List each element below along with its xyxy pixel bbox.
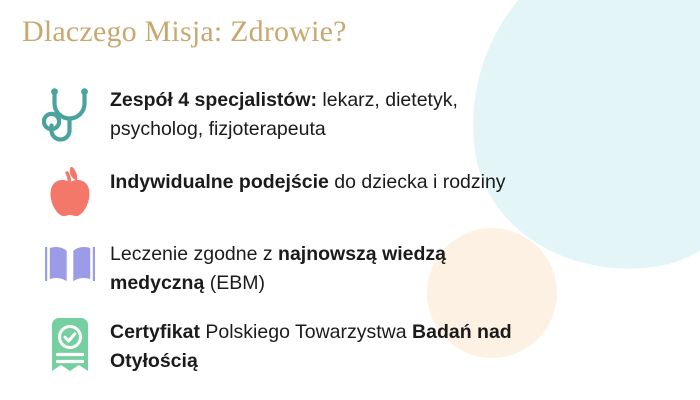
stethoscope-icon [36, 84, 104, 148]
benefits-list: Zespół 4 specjalistów: lekarz, dietetyk,… [0, 84, 700, 396]
list-item: Leczenie zgodne z najnowszą wiedzą medyc… [0, 238, 700, 316]
bullet-2-line-0-rest: Leczenie zgodne z [110, 243, 278, 265]
bullet-3-line-1-bold: Otyłością [110, 350, 198, 372]
apple-icon [36, 166, 104, 224]
bullet-0-line-0-bold: Zespół 4 specjalistów: [110, 89, 317, 111]
bullet-0-line-1-rest: psycholog, fizjoterapeuta [110, 118, 326, 140]
bullet-1-line-0-rest: do dziecka i rodziny [329, 171, 506, 193]
list-item-text: Certyfikat Polskiego Towarzystwa Badań n… [104, 316, 670, 376]
list-item-text: Zespół 4 specjalistów: lekarz, dietetyk,… [104, 84, 670, 144]
bullet-2-line-1-rest: (EBM) [204, 272, 265, 294]
bullet-1-line-0-bold: Indywidualne podejście [110, 171, 329, 193]
list-item: Certyfikat Polskiego Towarzystwa Badań n… [0, 316, 700, 396]
open-book-icon [36, 238, 104, 294]
list-item: Indywidualne podejście do dziecka i rodz… [0, 166, 700, 238]
slide-canvas: Dlaczego Misja: Zdrowie? Zespó [0, 0, 700, 400]
list-item: Zespół 4 specjalistów: lekarz, dietetyk,… [0, 84, 700, 166]
list-item-text: Leczenie zgodne z najnowszą wiedzą medyc… [104, 238, 670, 298]
bullet-3-line-0-bold: Certyfikat [110, 321, 200, 343]
list-item-text: Indywidualne podejście do dziecka i rodz… [104, 166, 670, 197]
bullet-2-line-0-bold-after: najnowszą wiedzą [278, 243, 446, 265]
bullet-2-line-1-bold: medyczną [110, 272, 204, 294]
bullet-0-line-0-rest: lekarz, dietetyk, [317, 89, 458, 111]
page-title: Dlaczego Misja: Zdrowie? [22, 12, 347, 52]
bullet-3-line-0-bold-after: Badań nad [412, 321, 512, 343]
certificate-icon [36, 316, 104, 376]
bullet-3-line-0-rest: Polskiego Towarzystwa [200, 321, 412, 343]
